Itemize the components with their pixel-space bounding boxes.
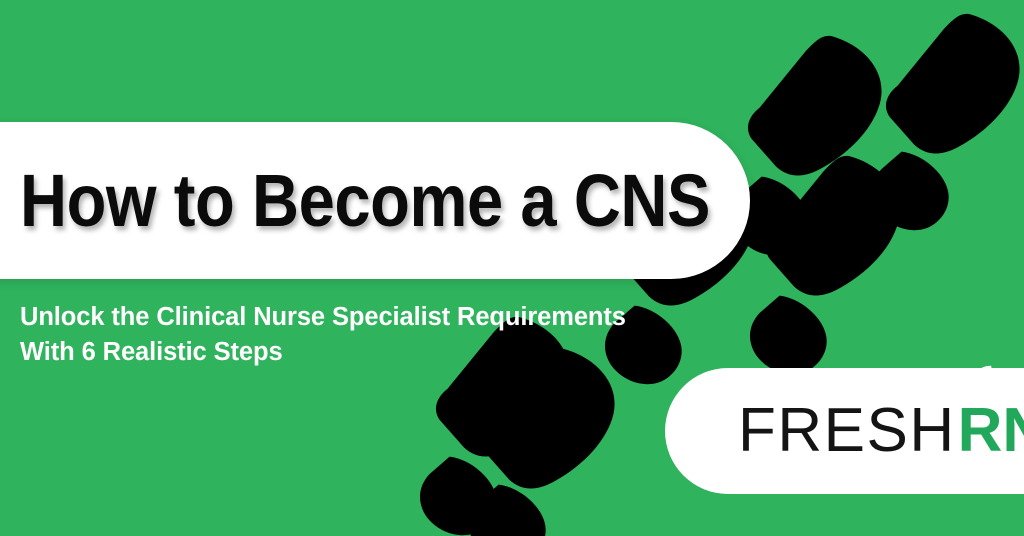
leaf-icon [972, 363, 994, 385]
blog-header-banner: How to Become a CNS Unlock the Clinical … [0, 0, 1024, 536]
logo-rn-group: RN [958, 400, 1024, 462]
logo-text-rn: RN [958, 396, 1024, 465]
subtitle-line-1: Unlock the Clinical Nurse Specialist Req… [20, 300, 750, 335]
logo-banner-pill: FRESH RN [665, 368, 1024, 494]
page-title: How to Become a CNS [20, 122, 710, 279]
logo-text-fresh: FRESH [738, 400, 956, 462]
freshrn-logo[interactable]: FRESH RN [738, 400, 1024, 462]
subtitle: Unlock the Clinical Nurse Specialist Req… [20, 300, 750, 370]
subtitle-line-2: With 6 Realistic Steps [20, 335, 750, 370]
title-banner-pill: How to Become a CNS [0, 122, 750, 279]
